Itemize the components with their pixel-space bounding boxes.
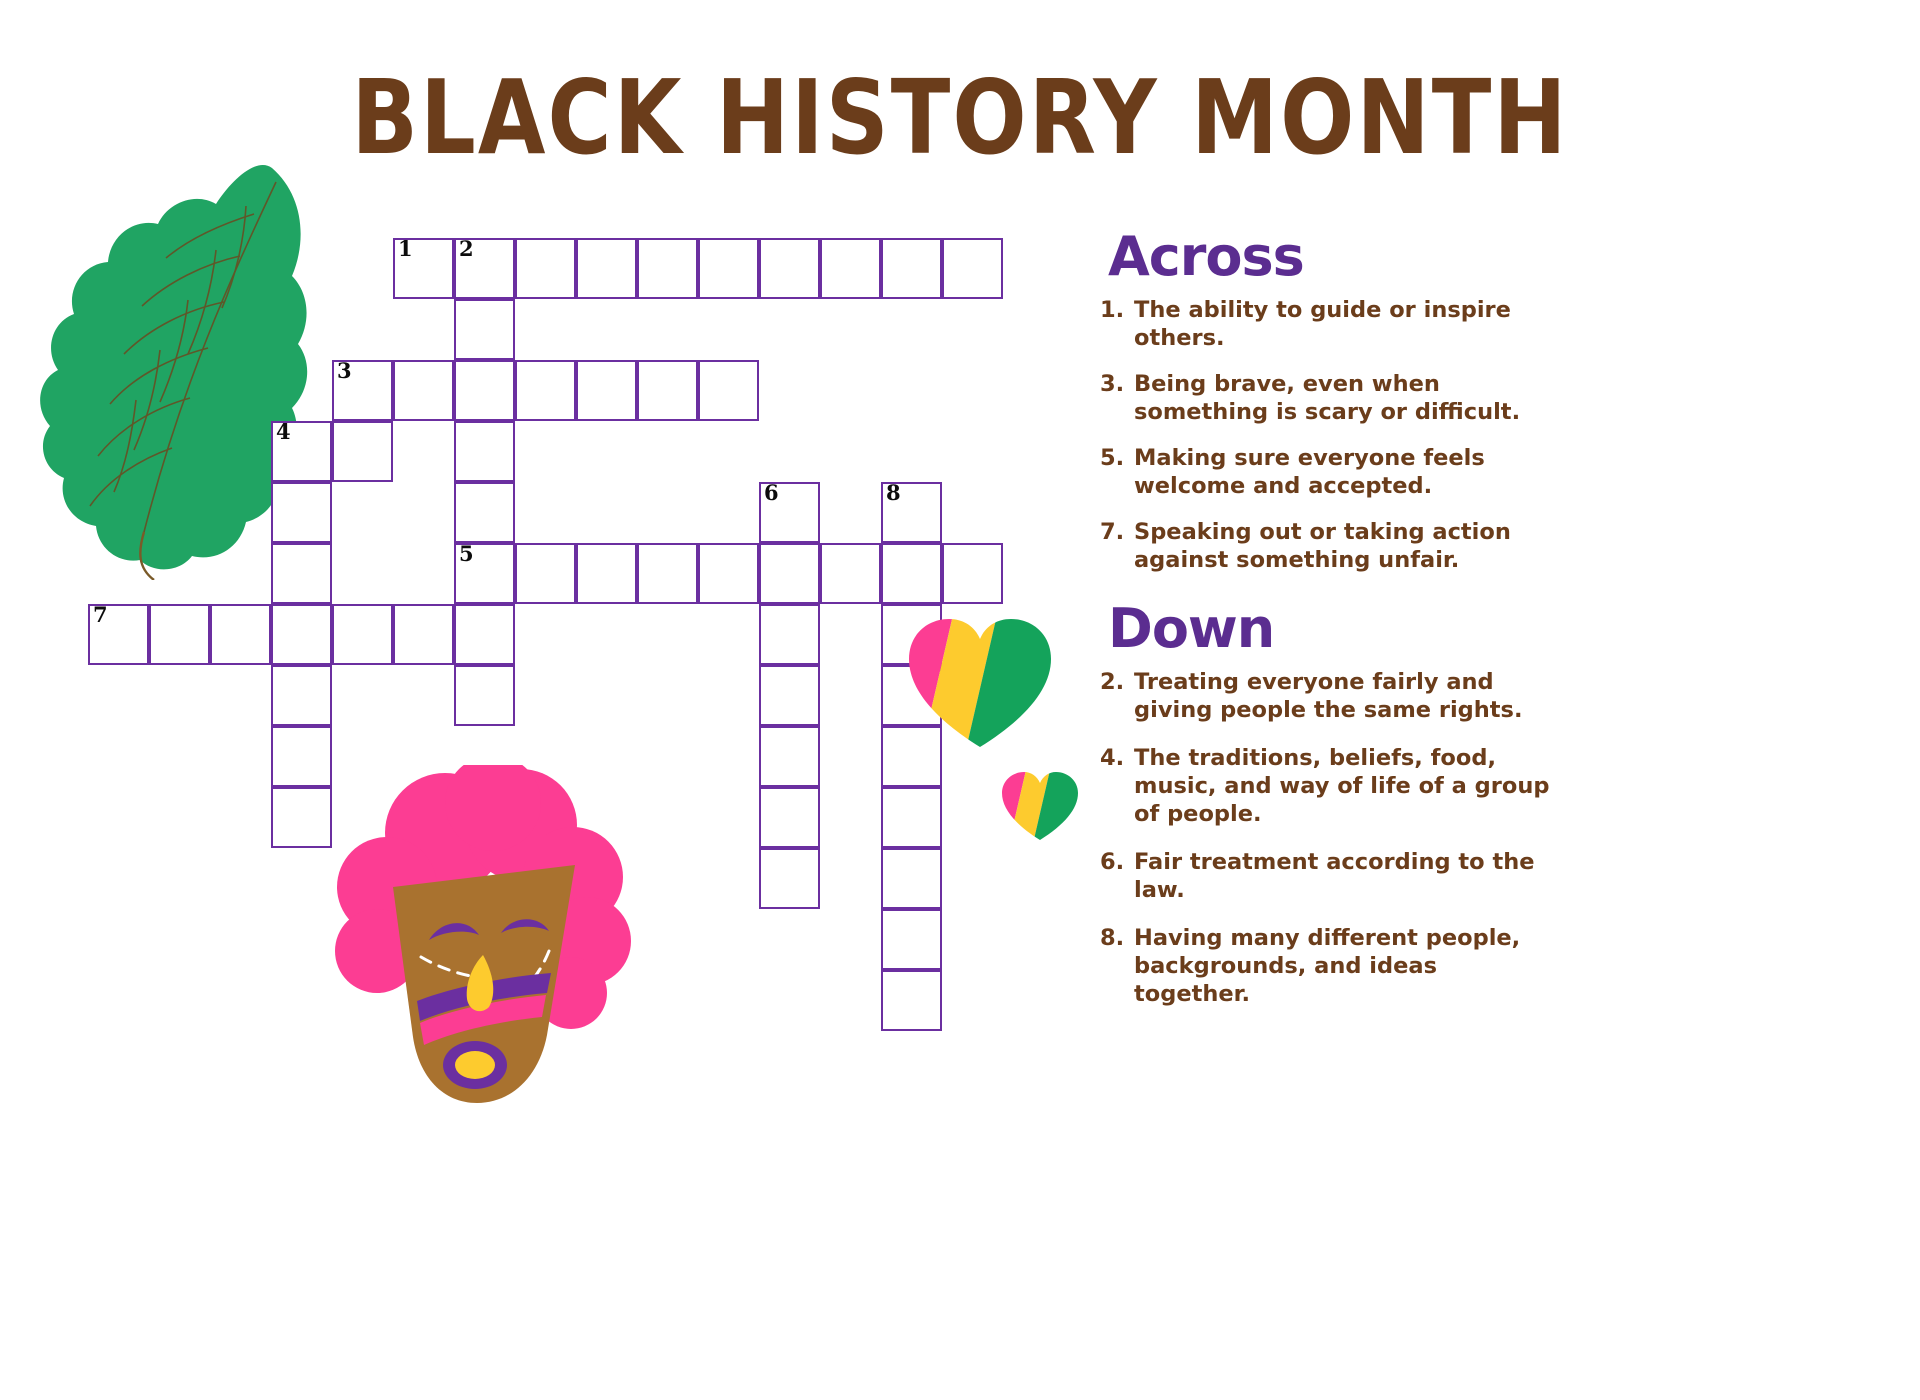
down-clue-item: 2.Treating everyone fairly and giving pe…	[1100, 668, 1560, 724]
crossword-cell[interactable]	[820, 543, 881, 604]
crossword-cell[interactable]	[576, 360, 637, 421]
down-clue-item: 4.The traditions, beliefs, food, music, …	[1100, 744, 1560, 828]
cell-number: 6	[764, 482, 779, 504]
crossword-cell[interactable]	[454, 665, 515, 726]
african-mask-icon	[325, 765, 635, 1110]
crossword-cell[interactable]	[759, 726, 820, 787]
across-heading: Across	[1108, 228, 1560, 286]
crossword-cell[interactable]	[698, 238, 759, 299]
crossword-cell[interactable]	[759, 665, 820, 726]
down-clue-number: 8.	[1100, 924, 1134, 952]
crossword-cell[interactable]	[271, 482, 332, 543]
crossword-cell[interactable]	[881, 909, 942, 970]
crossword-cell-numbered-7[interactable]: 7	[88, 604, 149, 665]
crossword-cell[interactable]	[454, 482, 515, 543]
crossword-cell[interactable]	[759, 848, 820, 909]
crossword-cell-numbered-2[interactable]: 2	[454, 238, 515, 299]
across-clue-item: 3.Being brave, even when something is sc…	[1100, 370, 1560, 426]
cell-number: 7	[93, 604, 108, 626]
crossword-cell[interactable]	[515, 360, 576, 421]
cell-number: 8	[886, 482, 901, 504]
across-clue-list: 1.The ability to guide or inspire others…	[1100, 296, 1560, 574]
crossword-cell[interactable]	[820, 238, 881, 299]
cell-number: 3	[337, 360, 352, 382]
across-clue-number: 7.	[1100, 518, 1134, 546]
clue-panel: Across 1.The ability to guide or inspire…	[1100, 228, 1560, 1028]
crossword-cell[interactable]	[515, 543, 576, 604]
cell-number: 1	[398, 238, 413, 260]
crossword-cell[interactable]	[759, 238, 820, 299]
down-clue-text: Having many different people, background…	[1134, 924, 1560, 1008]
crossword-cell[interactable]	[698, 360, 759, 421]
crossword-cell[interactable]	[515, 238, 576, 299]
crossword-cell[interactable]	[393, 360, 454, 421]
crossword-cell[interactable]	[637, 543, 698, 604]
crossword-cell[interactable]	[576, 238, 637, 299]
crossword-cell-numbered-3[interactable]: 3	[332, 360, 393, 421]
cell-number: 5	[459, 543, 474, 565]
crossword-cell[interactable]	[210, 604, 271, 665]
crossword-cell[interactable]	[759, 543, 820, 604]
crossword-cell[interactable]	[149, 604, 210, 665]
crossword-cell[interactable]	[393, 604, 454, 665]
crossword-cell[interactable]	[881, 543, 942, 604]
across-clue-item: 5.Making sure everyone feels welcome and…	[1100, 444, 1560, 500]
crossword-cell-numbered-4[interactable]: 4	[271, 421, 332, 482]
crossword-cell[interactable]	[759, 787, 820, 848]
worksheet-page: BLACK HISTORY MONTH 12346857	[0, 0, 1920, 1400]
crossword-cell[interactable]	[637, 238, 698, 299]
crossword-cell[interactable]	[637, 360, 698, 421]
crossword-cell[interactable]	[271, 604, 332, 665]
crossword-cell[interactable]	[698, 543, 759, 604]
across-clue-text: The ability to guide or inspire others.	[1134, 296, 1560, 352]
crossword-cell[interactable]	[881, 848, 942, 909]
crossword-cell[interactable]	[881, 787, 942, 848]
across-clue-text: Being brave, even when something is scar…	[1134, 370, 1560, 426]
down-clue-item: 8.Having many different people, backgrou…	[1100, 924, 1560, 1008]
crossword-cell[interactable]	[332, 604, 393, 665]
crossword-cell[interactable]	[271, 543, 332, 604]
crossword-cell[interactable]	[454, 299, 515, 360]
crossword-cell[interactable]	[576, 543, 637, 604]
striped-heart-small-icon	[1000, 770, 1080, 842]
down-clue-number: 6.	[1100, 848, 1134, 876]
crossword-cell[interactable]	[454, 604, 515, 665]
across-clue-item: 1.The ability to guide or inspire others…	[1100, 296, 1560, 352]
crossword-cell-numbered-5[interactable]: 5	[454, 543, 515, 604]
striped-heart-large-icon	[905, 615, 1055, 750]
across-clue-number: 3.	[1100, 370, 1134, 398]
across-clue-number: 1.	[1100, 296, 1134, 324]
crossword-cell[interactable]	[942, 238, 1003, 299]
crossword-cell-numbered-6[interactable]: 6	[759, 482, 820, 543]
crossword-cell[interactable]	[271, 726, 332, 787]
cell-number: 2	[459, 238, 474, 260]
across-clue-text: Speaking out or taking action against so…	[1134, 518, 1560, 574]
crossword-cell[interactable]	[881, 970, 942, 1031]
across-clue-number: 5.	[1100, 444, 1134, 472]
crossword-cell-numbered-1[interactable]: 1	[393, 238, 454, 299]
crossword-cell[interactable]	[332, 421, 393, 482]
crossword-cell[interactable]	[759, 604, 820, 665]
crossword-cell[interactable]	[942, 543, 1003, 604]
across-clue-text: Making sure everyone feels welcome and a…	[1134, 444, 1560, 500]
crossword-cell-numbered-8[interactable]: 8	[881, 482, 942, 543]
cell-number: 4	[276, 421, 291, 443]
crossword-cell[interactable]	[881, 238, 942, 299]
down-clue-item: 6.Fair treatment according to the law.	[1100, 848, 1560, 904]
down-clue-number: 2.	[1100, 668, 1134, 696]
down-clue-number: 4.	[1100, 744, 1134, 772]
crossword-cell[interactable]	[271, 665, 332, 726]
down-clue-list: 2.Treating everyone fairly and giving pe…	[1100, 668, 1560, 1008]
crossword-cell[interactable]	[454, 360, 515, 421]
down-clue-text: Treating everyone fairly and giving peop…	[1134, 668, 1560, 724]
down-clue-text: Fair treatment according to the law.	[1134, 848, 1560, 904]
down-heading: Down	[1108, 600, 1560, 658]
across-clue-item: 7.Speaking out or taking action against …	[1100, 518, 1560, 574]
crossword-cell[interactable]	[271, 787, 332, 848]
down-clue-text: The traditions, beliefs, food, music, an…	[1134, 744, 1560, 828]
crossword-cell[interactable]	[454, 421, 515, 482]
